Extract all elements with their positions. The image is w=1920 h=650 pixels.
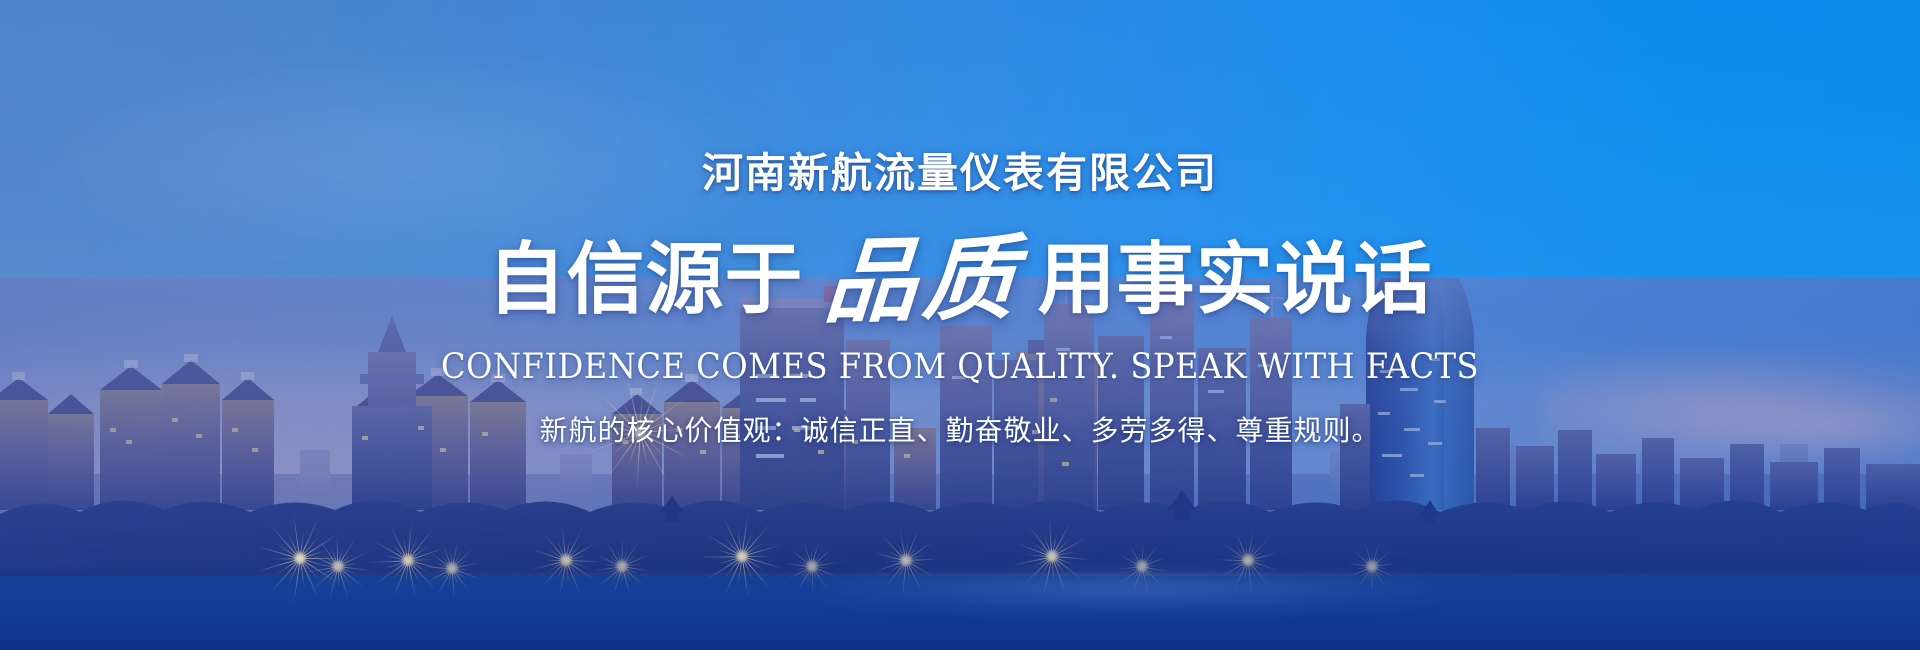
banner-content: 河南新航流量仪表有限公司 自信源于 品质 用事实说话 CONFIDENCE CO… — [0, 0, 1920, 445]
core-values-tagline: 新航的核心价值观：诚信正直、勤奋敬业、多劳多得、尊重规则。 — [0, 417, 1920, 445]
company-name: 河南新航流量仪表有限公司 — [0, 153, 1920, 194]
headline-emphasis: 品质 — [800, 232, 1041, 329]
headline-trail: 用事实说话 — [1038, 241, 1433, 319]
english-subtitle: CONFIDENCE COMES FROM QUALITY. SPEAK WIT… — [77, 350, 1843, 385]
shoreline-trees — [0, 500, 1920, 578]
headline-lead: 自信源于 — [487, 241, 803, 319]
headline: 自信源于 品质 用事实说话 — [0, 232, 1920, 328]
hero-banner: 河南新航流量仪表有限公司 自信源于 品质 用事实说话 CONFIDENCE CO… — [0, 0, 1920, 650]
water-reflection — [820, 570, 1440, 610]
